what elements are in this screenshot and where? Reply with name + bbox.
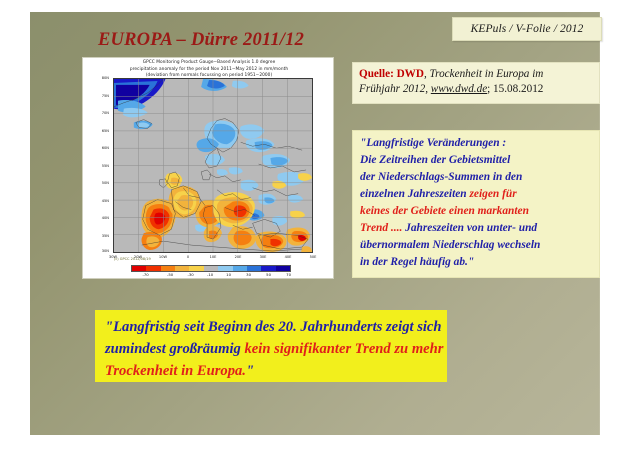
- conclusion-banner: "Langfristig seit Beginn des 20. Jahrhun…: [95, 310, 447, 382]
- map-xtick-3: 0: [179, 255, 197, 259]
- colorbar-swatch-5: [204, 266, 218, 271]
- source-text-1: Trockenheit in Europa im: [430, 68, 544, 80]
- quote-line: der Niederschlags-Summen in den: [360, 169, 594, 186]
- colorbar-gradient: [131, 265, 291, 272]
- quote-seg: Die Zeitreihen der Gebietsmittel: [360, 154, 510, 166]
- map-credit: (c) GPCC 2012/08/19: [114, 257, 151, 261]
- quote-seg: einzelnen Jahreszeiten: [360, 188, 470, 200]
- colorbar-tick-6: 50: [262, 272, 276, 277]
- map-ytick-2: 70N: [93, 111, 109, 115]
- quote-box: "Langfristige Veränderungen : Die Zeitre…: [352, 130, 600, 278]
- quote-line: übernormalem Niederschlag wechseln: [360, 237, 594, 254]
- quote-line: "Langfristige Veränderungen :: [360, 135, 594, 152]
- map-xtick-4: 10E: [204, 255, 222, 259]
- source-line-1: Quelle: DWD, Trockenheit in Europa im: [359, 67, 593, 82]
- colorbar-tick-2: -30: [184, 272, 198, 277]
- header-tab-label: KEPuls / V-Folie / 2012: [471, 23, 584, 35]
- colorbar-tick-4: 10: [222, 272, 236, 277]
- slide-root: KEPuls / V-Folie / 2012 EUROPA – Dürre 2…: [0, 0, 640, 452]
- colorbar-swatch-9: [261, 266, 275, 271]
- quote-line: Trend .... Jahreszeiten von unter- und: [360, 220, 594, 237]
- map-ytick-5: 55N: [93, 164, 109, 168]
- colorbar-swatch-0: [132, 266, 146, 271]
- colorbar-swatch-6: [218, 266, 232, 271]
- map-xtick-5: 20E: [229, 255, 247, 259]
- map-plot-area: [113, 78, 313, 253]
- map-xtick-7: 40E: [279, 255, 297, 259]
- banner-seg: ": [246, 363, 254, 379]
- colorbar-swatch-10: [276, 266, 290, 271]
- colorbar-tick-7: 70: [282, 272, 296, 277]
- page-title: EUROPA – Dürre 2011/12: [98, 30, 304, 51]
- colorbar-swatch-2: [161, 266, 175, 271]
- map-ytick-4: 60N: [93, 146, 109, 150]
- colorbar-swatch-1: [146, 266, 160, 271]
- banner-line: zumindest großräumig kein signifikanter …: [105, 338, 439, 360]
- banner-line: Trockenheit in Europa.": [105, 360, 439, 382]
- colorbar-swatch-7: [233, 266, 247, 271]
- map-ytick-8: 40N: [93, 216, 109, 220]
- map-caption: GPCC Monitoring Product Gauge−Based Anal…: [83, 60, 335, 80]
- map-colorbar: -70 -50 -30 -10 10 30 50 70: [131, 265, 291, 273]
- banner-seg: Trockenheit in Europa.: [105, 363, 246, 379]
- quote-line: in der Regel häufig ab.": [360, 254, 594, 271]
- colorbar-swatch-3: [175, 266, 189, 271]
- map-ytick-9: 35N: [93, 234, 109, 238]
- quote-line: Die Zeitreihen der Gebietsmittel: [360, 152, 594, 169]
- map-xtick-8: 50E: [304, 255, 322, 259]
- quote-line: keines der Gebiete einen markanten: [360, 203, 594, 220]
- banner-line: "Langfristig seit Beginn des 20. Jahrhun…: [105, 316, 439, 338]
- colorbar-tick-5: 30: [242, 272, 256, 277]
- quote-seg: Trend ....: [360, 222, 405, 234]
- map-ytick-6: 50N: [93, 181, 109, 185]
- quote-seg: übernormalem Niederschlag wechseln: [360, 239, 540, 251]
- quote-line: einzelnen Jahreszeiten zeigen für: [360, 186, 594, 203]
- colorbar-swatch-8: [247, 266, 261, 271]
- quote-seg: der Niederschlags-Summen in den: [360, 171, 522, 183]
- colorbar-swatch-4: [189, 266, 203, 271]
- quote-seg: Jahreszeiten von unter- und: [405, 222, 537, 234]
- source-box: Quelle: DWD, Trockenheit in Europa im Fr…: [352, 62, 600, 104]
- banner-seg: kein signifikanter Trend zu mehr: [245, 341, 444, 357]
- map-graphic: [114, 79, 312, 252]
- map-ytick-3: 65N: [93, 129, 109, 133]
- header-tab: KEPuls / V-Folie / 2012: [452, 17, 602, 41]
- banner-seg: "Langfristig seit Beginn des 20. Jahrhun…: [105, 319, 442, 335]
- quote-seg: "Langfristige Veränderungen :: [360, 137, 506, 149]
- map-xtick-6: 30E: [254, 255, 272, 259]
- map-ytick-7: 45N: [93, 199, 109, 203]
- map-ytick-0: 80N: [93, 76, 109, 80]
- quote-seg: in der Regel häufig ab.": [360, 256, 474, 268]
- map-ytick-1: 75N: [93, 94, 109, 98]
- source-line-2: Frühjahr 2012, www.dwd.de; 15.08.2012: [359, 82, 593, 97]
- source-label: Quelle: DWD: [359, 68, 424, 80]
- banner-seg: zumindest großräumig: [105, 341, 245, 357]
- source-link[interactable]: www.dwd.de: [431, 83, 487, 95]
- quote-seg: zeigen für: [470, 188, 517, 200]
- colorbar-tick-3: -10: [203, 272, 217, 277]
- colorbar-tick-0: -70: [139, 272, 153, 277]
- source-date: ; 15.08.2012: [487, 83, 543, 95]
- colorbar-tick-1: -50: [163, 272, 177, 277]
- quote-seg: keines der Gebiete einen markanten: [360, 205, 529, 217]
- source-text-2: Frühjahr 2012,: [359, 83, 428, 95]
- precipitation-anomaly-map: GPCC Monitoring Product Gauge−Based Anal…: [82, 57, 334, 279]
- map-ytick-10: 30N: [93, 249, 109, 253]
- map-xtick-2: 10W: [154, 255, 172, 259]
- source-comma: ,: [424, 68, 427, 80]
